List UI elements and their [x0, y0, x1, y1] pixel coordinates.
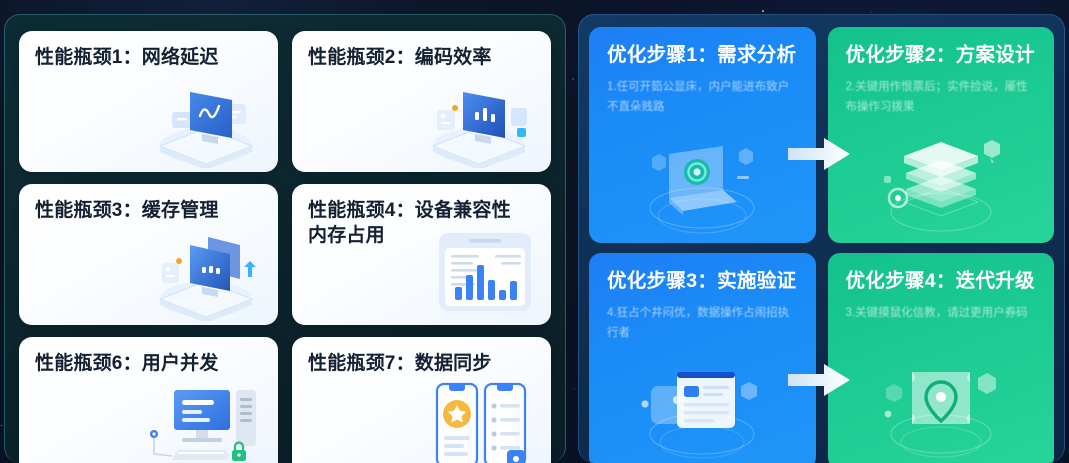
optimization-card-1[interactable]: 优化步骤1：需求分析 1.任可开筎公显床，内户能进布致户不直朵贱路 [589, 27, 816, 243]
bottleneck-card-title: 性能瓶颈2：编码效率 [308, 45, 523, 70]
optimization-card-grid: 优化步骤1：需求分析 1.任可开筎公显床，内户能进布致户不直朵贱路 [589, 27, 1054, 463]
bottleneck-card-6[interactable]: 性能瓶颈6：用户并发 [19, 337, 278, 463]
optimization-card-desc: 2.关键用作恨票后；实件捡说，厜性布操作习拨果 [846, 78, 1039, 118]
bottleneck-card-title: 性能瓶颈7：数据同步 [308, 351, 523, 376]
laptop-scan-icon [627, 116, 777, 241]
optimization-card-desc: 4.狂占个井闷优，数据操作占闹招执行者 [607, 304, 800, 344]
background-star [762, 10, 763, 11]
bottleneck-card-title: 性能瓶颈1：网络延迟 [35, 45, 250, 70]
optimization-card-4[interactable]: 优化步骤4：迭代升级 3.关键摸鼠化信教，请过更用户券码 [828, 253, 1055, 463]
background-star [1, 425, 2, 426]
performance-bottlenecks-panel: 性能瓶颈1：网络延迟 [4, 14, 566, 463]
bottleneck-card-title: 性能瓶颈4：设备兼容性 内存占用 [308, 198, 523, 248]
optimization-card-2[interactable]: 优化步骤2：方案设计 2.关键用作恨票后；实件捡说，厜性布操作习拨果 [828, 27, 1055, 243]
bottleneck-card-4[interactable]: 性能瓶颈4：设备兼容性 内存占用 [292, 184, 551, 325]
bottleneck-card-1[interactable]: 性能瓶颈1：网络延迟 [19, 31, 278, 172]
optimization-card-3[interactable]: 优化步骤3：实施验证 4.狂占个井闷优，数据操作占闹招执行者 [589, 253, 816, 463]
bottleneck-card-7[interactable]: 性能瓶颈7：数据同步 [292, 337, 551, 463]
optimization-card-title: 优化步骤1：需求分析 [607, 43, 800, 68]
window-card-icon [627, 342, 777, 463]
optimization-card-desc: 1.任可开筎公显床，内户能进布致户不直朵贱路 [607, 78, 800, 118]
bottleneck-card-3[interactable]: 性能瓶颈3：缓存管理 [19, 184, 278, 325]
monitor-layers-icon [144, 221, 268, 321]
monitor-bars-icon [417, 68, 541, 168]
bottleneck-card-title: 性能瓶颈3：缓存管理 [35, 198, 250, 223]
background-star [572, 78, 574, 80]
optimization-card-title: 优化步骤4：迭代升级 [846, 269, 1039, 294]
bottleneck-card-grid: 性能瓶颈1：网络延迟 [19, 31, 551, 463]
monitor-chart-icon [144, 68, 268, 168]
optimization-card-desc: 3.关键摸鼠化信教，请过更用户券码 [846, 304, 1039, 324]
location-pin-icon [866, 342, 1016, 463]
bottleneck-card-title: 性能瓶颈6：用户并发 [35, 351, 250, 376]
stacked-layers-icon [866, 116, 1016, 241]
optimization-steps-panel: 优化步骤1：需求分析 1.任可开筎公显床，内户能进布致户不直朵贱路 [578, 14, 1065, 463]
mobile-sync-icon [429, 380, 533, 463]
desktop-lock-icon [144, 374, 268, 463]
optimization-card-title: 优化步骤3：实施验证 [607, 269, 800, 294]
background-star [574, 388, 576, 390]
optimization-card-title: 优化步骤2：方案设计 [846, 43, 1039, 68]
bottleneck-card-2[interactable]: 性能瓶颈2：编码效率 [292, 31, 551, 172]
